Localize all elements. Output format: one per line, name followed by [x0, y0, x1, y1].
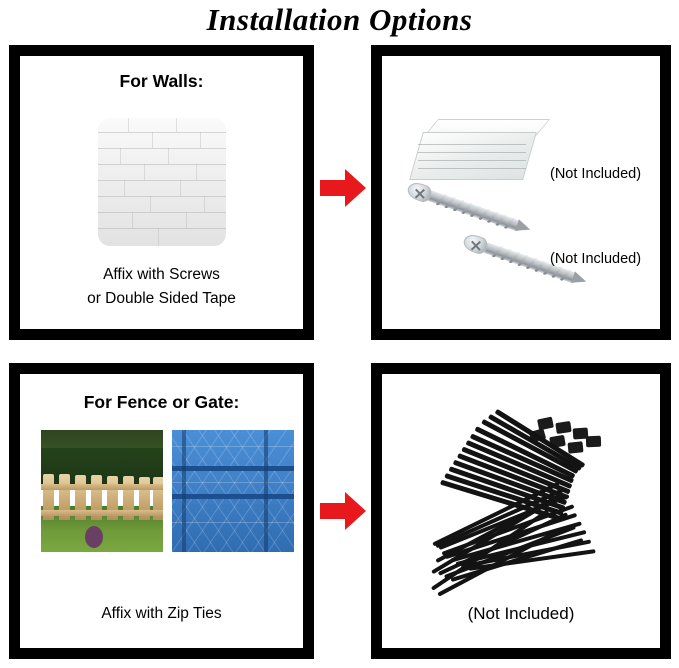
white-brick-wall-swatch	[98, 118, 226, 246]
chain-link-fence-photo	[172, 430, 294, 552]
for-walls-caption: Affix with Screws or Double Sided Tape	[20, 263, 303, 311]
for-fence-heading: For Fence or Gate:	[20, 392, 303, 413]
wood-screw-icon-1	[405, 180, 552, 245]
for-walls-caption-line2: or Double Sided Tape	[20, 287, 303, 311]
red-arrow-right-bottom-icon	[320, 492, 366, 530]
double-sided-tape-stack-icon	[410, 116, 538, 186]
zip-ties-not-included-note: (Not Included)	[382, 604, 660, 624]
page-title: Installation Options	[0, 0, 679, 40]
black-zip-ties-bundle-icon	[410, 416, 640, 586]
wooden-picket-fence-photo	[41, 430, 163, 552]
tape-not-included-note: (Not Included)	[550, 166, 641, 182]
panel-for-walls: For Walls: Affix with Screws or Double S…	[9, 45, 314, 340]
for-walls-heading: For Walls:	[20, 71, 303, 92]
red-arrow-right-top-icon	[320, 169, 366, 207]
panel-wall-hardware: (Not Included) (Not Inclu	[371, 45, 671, 340]
panel-zip-ties: (Not Included)	[371, 363, 671, 659]
for-walls-caption-line1: Affix with Screws	[20, 263, 303, 287]
for-fence-caption: Affix with Zip Ties	[20, 602, 303, 626]
screws-not-included-note: (Not Included)	[550, 251, 641, 267]
panel-for-fence-or-gate: For Fence or Gate:	[9, 363, 314, 659]
